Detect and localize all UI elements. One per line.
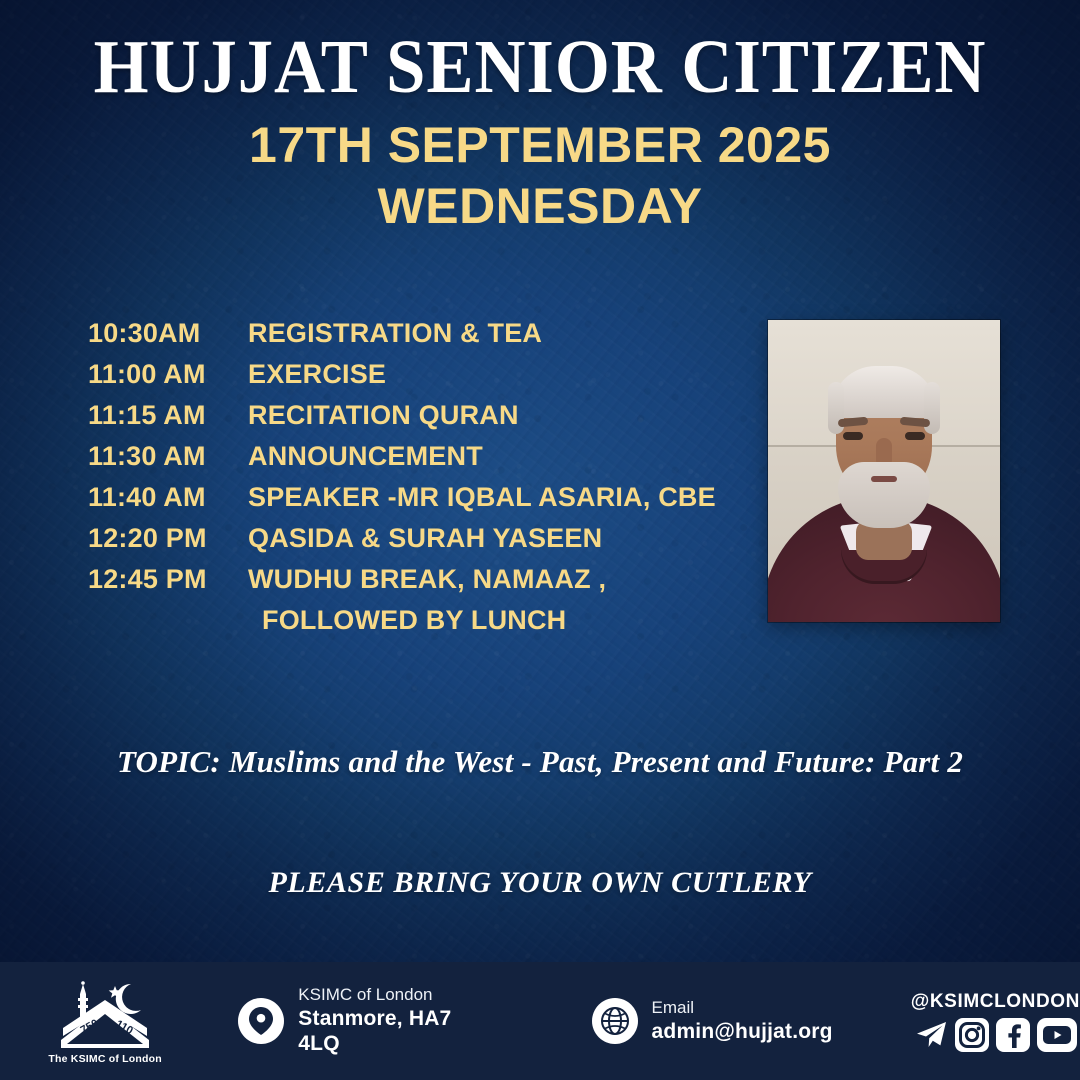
schedule-row: 11:15 AM RECITATION QURAN xyxy=(88,400,748,431)
schedule-row-continuation: FOLLOWED BY LUNCH xyxy=(88,605,748,636)
instagram-icon[interactable] xyxy=(955,1018,989,1052)
email-text: Email admin@hujjat.org xyxy=(652,998,833,1044)
poster-footer: 750 110 The KSIMC of London KSIMC of Lon… xyxy=(0,962,1080,1080)
schedule-item: REGISTRATION & TEA xyxy=(248,318,748,349)
schedule-time: 11:00 AM xyxy=(88,359,248,390)
mosque-crescent-icon: 750 110 xyxy=(53,978,157,1050)
mosque-logo-icon: 750 110 xyxy=(53,978,157,1050)
facebook-icon[interactable] xyxy=(996,1018,1030,1052)
social-icon-row xyxy=(911,1018,1080,1052)
telegram-glyph xyxy=(915,1021,947,1049)
footer-email[interactable]: Email admin@hujjat.org xyxy=(592,998,833,1044)
speaker-eye-left xyxy=(843,432,863,440)
schedule-row: 10:30AM REGISTRATION & TEA xyxy=(88,318,748,349)
email-address[interactable]: admin@hujjat.org xyxy=(652,1019,833,1045)
schedule-time: 10:30AM xyxy=(88,318,248,349)
email-label: Email xyxy=(652,998,833,1019)
youtube-glyph xyxy=(1041,1023,1073,1047)
footer-social: @KSIMCLONDON xyxy=(911,991,1080,1052)
schedule-row: 11:40 AM SPEAKER -MR IQBAL ASARIA, CBE xyxy=(88,482,748,513)
schedule-item: SPEAKER -MR IQBAL ASARIA, CBE xyxy=(248,482,748,513)
poster-header: HUJJAT SENIOR CITIZEN 17TH SEPTEMBER 202… xyxy=(0,0,1080,236)
speaker-beard xyxy=(838,462,930,528)
location-text: KSIMC of London Stanmore, HA7 4LQ xyxy=(298,985,471,1057)
globe-glyph xyxy=(600,1006,630,1036)
speaker-eye-right xyxy=(905,432,925,440)
footer-location: KSIMC of London Stanmore, HA7 4LQ xyxy=(238,985,471,1057)
schedule-time: 11:40 AM xyxy=(88,482,248,513)
schedule-item: WUDHU BREAK, NAMAAZ , xyxy=(248,564,748,595)
schedule-row: 11:30 AM ANNOUNCEMENT xyxy=(88,441,748,472)
logo-caption: The KSIMC of London xyxy=(48,1053,161,1065)
event-poster: HUJJAT SENIOR CITIZEN 17TH SEPTEMBER 202… xyxy=(0,0,1080,1080)
facebook-glyph xyxy=(1000,1022,1026,1048)
telegram-icon[interactable] xyxy=(914,1018,948,1052)
schedule-item: RECITATION QURAN xyxy=(248,400,748,431)
location-pin-icon xyxy=(238,998,284,1044)
event-date: 17TH SEPTEMBER 2025 xyxy=(0,116,1080,175)
page-title: HUJJAT SENIOR CITIZEN xyxy=(38,0,1042,108)
instagram-glyph xyxy=(959,1022,985,1048)
schedule-row: 12:20 PM QASIDA & SURAH YASEEN xyxy=(88,523,748,554)
schedule-list: 10:30AM REGISTRATION & TEA 11:00 AM EXER… xyxy=(88,318,748,646)
schedule-item: ANNOUNCEMENT xyxy=(248,441,748,472)
schedule-row: 11:00 AM EXERCISE xyxy=(88,359,748,390)
schedule-time: 12:20 PM xyxy=(88,523,248,554)
event-weekday: WEDNESDAY xyxy=(0,177,1080,236)
schedule-item: EXERCISE xyxy=(248,359,748,390)
location-pin-glyph xyxy=(248,1006,274,1036)
schedule-time: 12:45 PM xyxy=(88,564,248,595)
location-line-1: KSIMC of London xyxy=(298,985,471,1006)
schedule-row: 12:45 PM WUDHU BREAK, NAMAAZ , xyxy=(88,564,748,595)
schedule-item: QASIDA & SURAH YASEEN xyxy=(248,523,748,554)
schedule-time: 11:30 AM xyxy=(88,441,248,472)
speaker-photo xyxy=(768,320,1000,622)
location-line-2: Stanmore, HA7 4LQ xyxy=(298,1006,471,1057)
schedule-item: FOLLOWED BY LUNCH xyxy=(248,605,748,636)
youtube-icon[interactable] xyxy=(1037,1018,1077,1052)
notice-line: PLEASE BRING YOUR OWN CUTLERY xyxy=(0,866,1080,900)
social-handle: @KSIMCLONDON xyxy=(911,991,1080,1013)
organisation-logo: 750 110 The KSIMC of London xyxy=(0,978,210,1065)
topic-line: TOPIC: Muslims and the West - Past, Pres… xyxy=(0,744,1080,780)
globe-icon xyxy=(592,998,638,1044)
schedule-time: 11:15 AM xyxy=(88,400,248,431)
speaker-mouth xyxy=(871,476,897,482)
